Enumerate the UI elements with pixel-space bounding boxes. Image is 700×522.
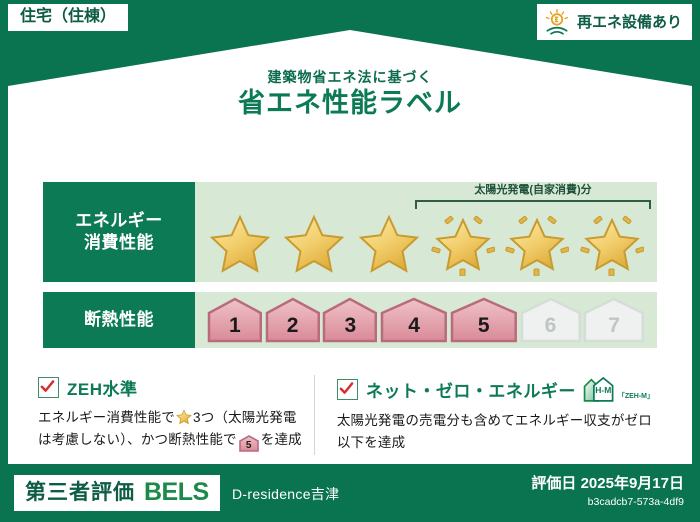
net-zero-energy-criterion: ネット・ゼロ・エネルギー H-M 「ZEH-M」 太陽光発電の売 (314, 375, 664, 455)
net-zero-criterion-title: ネット・ゼロ・エネルギー (366, 377, 576, 402)
insulation-level-number: 6 (545, 315, 557, 343)
star-solar-icon (580, 212, 644, 276)
zeh-desc-part1: エネルギー消費性能で (38, 410, 175, 425)
insulation-performance-row: 断熱性能 1 (43, 292, 657, 348)
star-icon (357, 212, 421, 276)
zeh-criterion: ZEH水準 エネルギー消費性能で3つ（太陽光発電は考慮しない）、かつ断熱性能で5… (36, 375, 314, 455)
zeh-criterion-title: ZEH水準 (67, 375, 138, 400)
solar-note-label: 太陽光発電(自家消費)分 (415, 184, 651, 196)
energy-performance-caption: エネルギー 消費性能 (43, 182, 195, 282)
star-solar-icon (505, 212, 569, 276)
insulation-level-6: 6 (520, 297, 582, 343)
net-zero-criterion-desc: 太陽光発電の売電分も含めてエネルギー収支がゼロ以下を達成 (337, 410, 654, 455)
housing-type-label: 住宅（住棟） (20, 8, 116, 25)
label-footer: 第三者評価 BELS D-residence吉津 評価日 2025年9月17日 … (0, 464, 700, 522)
page-title: 省エネ性能ラベル (8, 88, 692, 119)
zeh-m-house-icon: H-M 「ZEH-M」 (582, 375, 654, 403)
zeh-m-caption: 「ZEH-M」 (618, 391, 654, 403)
rating-rows: エネルギー 消費性能 太陽光発電(自家消費)分 (43, 182, 657, 358)
star-icon (208, 212, 272, 276)
bels-logo-text: BELS (144, 480, 209, 505)
renewable-equipment-label: 再エネ設備あり (577, 15, 682, 30)
housing-type-badge: 住宅（住棟） (8, 4, 128, 31)
solar-sun-icon (543, 8, 571, 36)
renewable-equipment-badge: 再エネ設備あり (537, 4, 692, 40)
energy-caption-line2: 消費性能 (84, 233, 154, 252)
star-rating-group (195, 212, 657, 276)
insulation-level-number: 7 (608, 315, 620, 343)
insulation-level-7: 7 (583, 297, 645, 343)
insulation-level-3: 3 (322, 297, 378, 343)
check-icon (337, 379, 358, 400)
zeh-criterion-head: ZEH水準 (38, 375, 304, 400)
insulation-level-badge-icon: 5 (239, 435, 259, 452)
energy-performance-row: エネルギー 消費性能 太陽光発電(自家消費)分 (43, 182, 657, 282)
energy-caption-line1: エネルギー (75, 211, 163, 230)
label-id: b3cadcb7-573a-4df9 (531, 495, 684, 510)
insulation-level-area: 1 2 3 (195, 292, 657, 348)
label-body-panel: 建築物省エネ法に基づく 省エネ性能ラベル エネルギー 消費性能 太陽光発電(自家… (8, 30, 692, 464)
bels-badge: 第三者評価 BELS (14, 475, 220, 511)
insulation-level-5: 5 (450, 297, 518, 343)
star-icon (176, 409, 192, 425)
insulation-level-number: 3 (344, 315, 356, 343)
star-icon (282, 212, 346, 276)
insulation-level-2: 2 (265, 297, 321, 343)
star-solar-icon (431, 212, 495, 276)
title-block: 建築物省エネ法に基づく 省エネ性能ラベル (8, 70, 692, 119)
insulation-badge-number: 5 (239, 435, 259, 457)
evaluation-date: 評価日 2025年9月17日 (531, 475, 684, 493)
insulation-caption-label: 断熱性能 (84, 309, 154, 331)
title-subtitle: 建築物省エネ法に基づく (8, 70, 692, 85)
check-icon (38, 377, 59, 398)
third-party-evaluation-label: 第三者評価 (25, 482, 135, 503)
insulation-level-number: 5 (478, 315, 490, 343)
building-name: D-residence吉津 (232, 484, 339, 504)
insulation-level-4: 4 (380, 297, 448, 343)
solar-bracket (415, 200, 651, 209)
zeh-desc-part3: を達成 (261, 432, 302, 447)
footer-meta: 評価日 2025年9月17日 b3cadcb7-573a-4df9 (531, 475, 684, 510)
insulation-level-number: 1 (229, 315, 241, 343)
zeh-criterion-desc: エネルギー消費性能で3つ（太陽光発電は考慮しない）、かつ断熱性能で5を達成 (38, 407, 304, 452)
net-zero-criterion-head: ネット・ゼロ・エネルギー H-M 「ZEH-M」 (337, 375, 654, 403)
insulation-level-group: 1 2 3 (195, 292, 657, 348)
insulation-performance-caption: 断熱性能 (43, 292, 195, 348)
energy-star-area: 太陽光発電(自家消費)分 (195, 182, 657, 282)
svg-text:H-M: H-M (595, 385, 611, 395)
energy-label-root: 住宅（住棟） 再エネ設備あり 建築物省エネ法に基づく 省 (0, 0, 700, 522)
criteria-columns: ZEH水準 エネルギー消費性能で3つ（太陽光発電は考慮しない）、かつ断熱性能で5… (36, 375, 664, 455)
insulation-level-1: 1 (207, 297, 263, 343)
insulation-level-number: 2 (287, 315, 299, 343)
insulation-level-number: 4 (408, 315, 420, 343)
